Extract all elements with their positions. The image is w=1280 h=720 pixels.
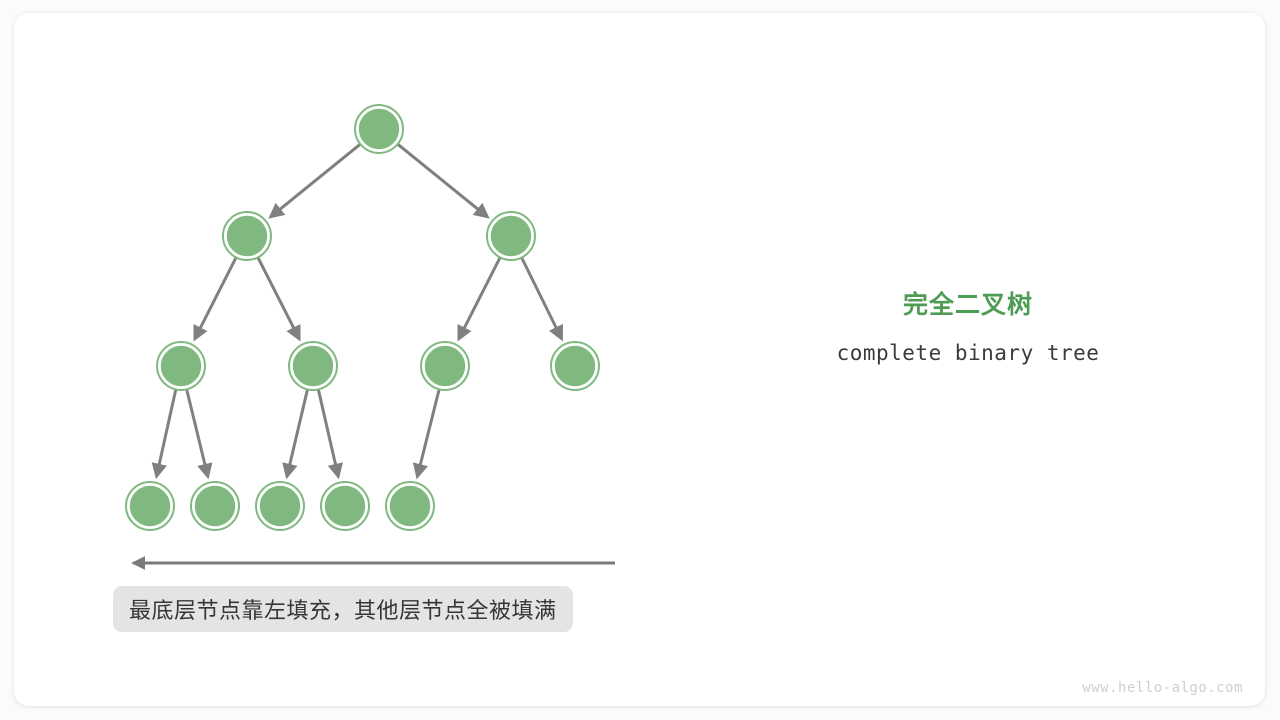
- legend-subtitle: complete binary tree: [790, 339, 1146, 367]
- caption-badge: 最底层节点靠左填充，其他层节点全被填满: [113, 586, 573, 632]
- legend-title: 完全二叉树: [790, 288, 1146, 322]
- caption-text: 最底层节点靠左填充，其他层节点全被填满: [129, 593, 557, 625]
- watermark: www.hello-algo.com: [1082, 680, 1243, 696]
- diagram-stage: 完全二叉树 complete binary tree 最底层节点靠左填充，其他层…: [0, 0, 1280, 720]
- legend-block: 完全二叉树 complete binary tree: [790, 288, 1146, 367]
